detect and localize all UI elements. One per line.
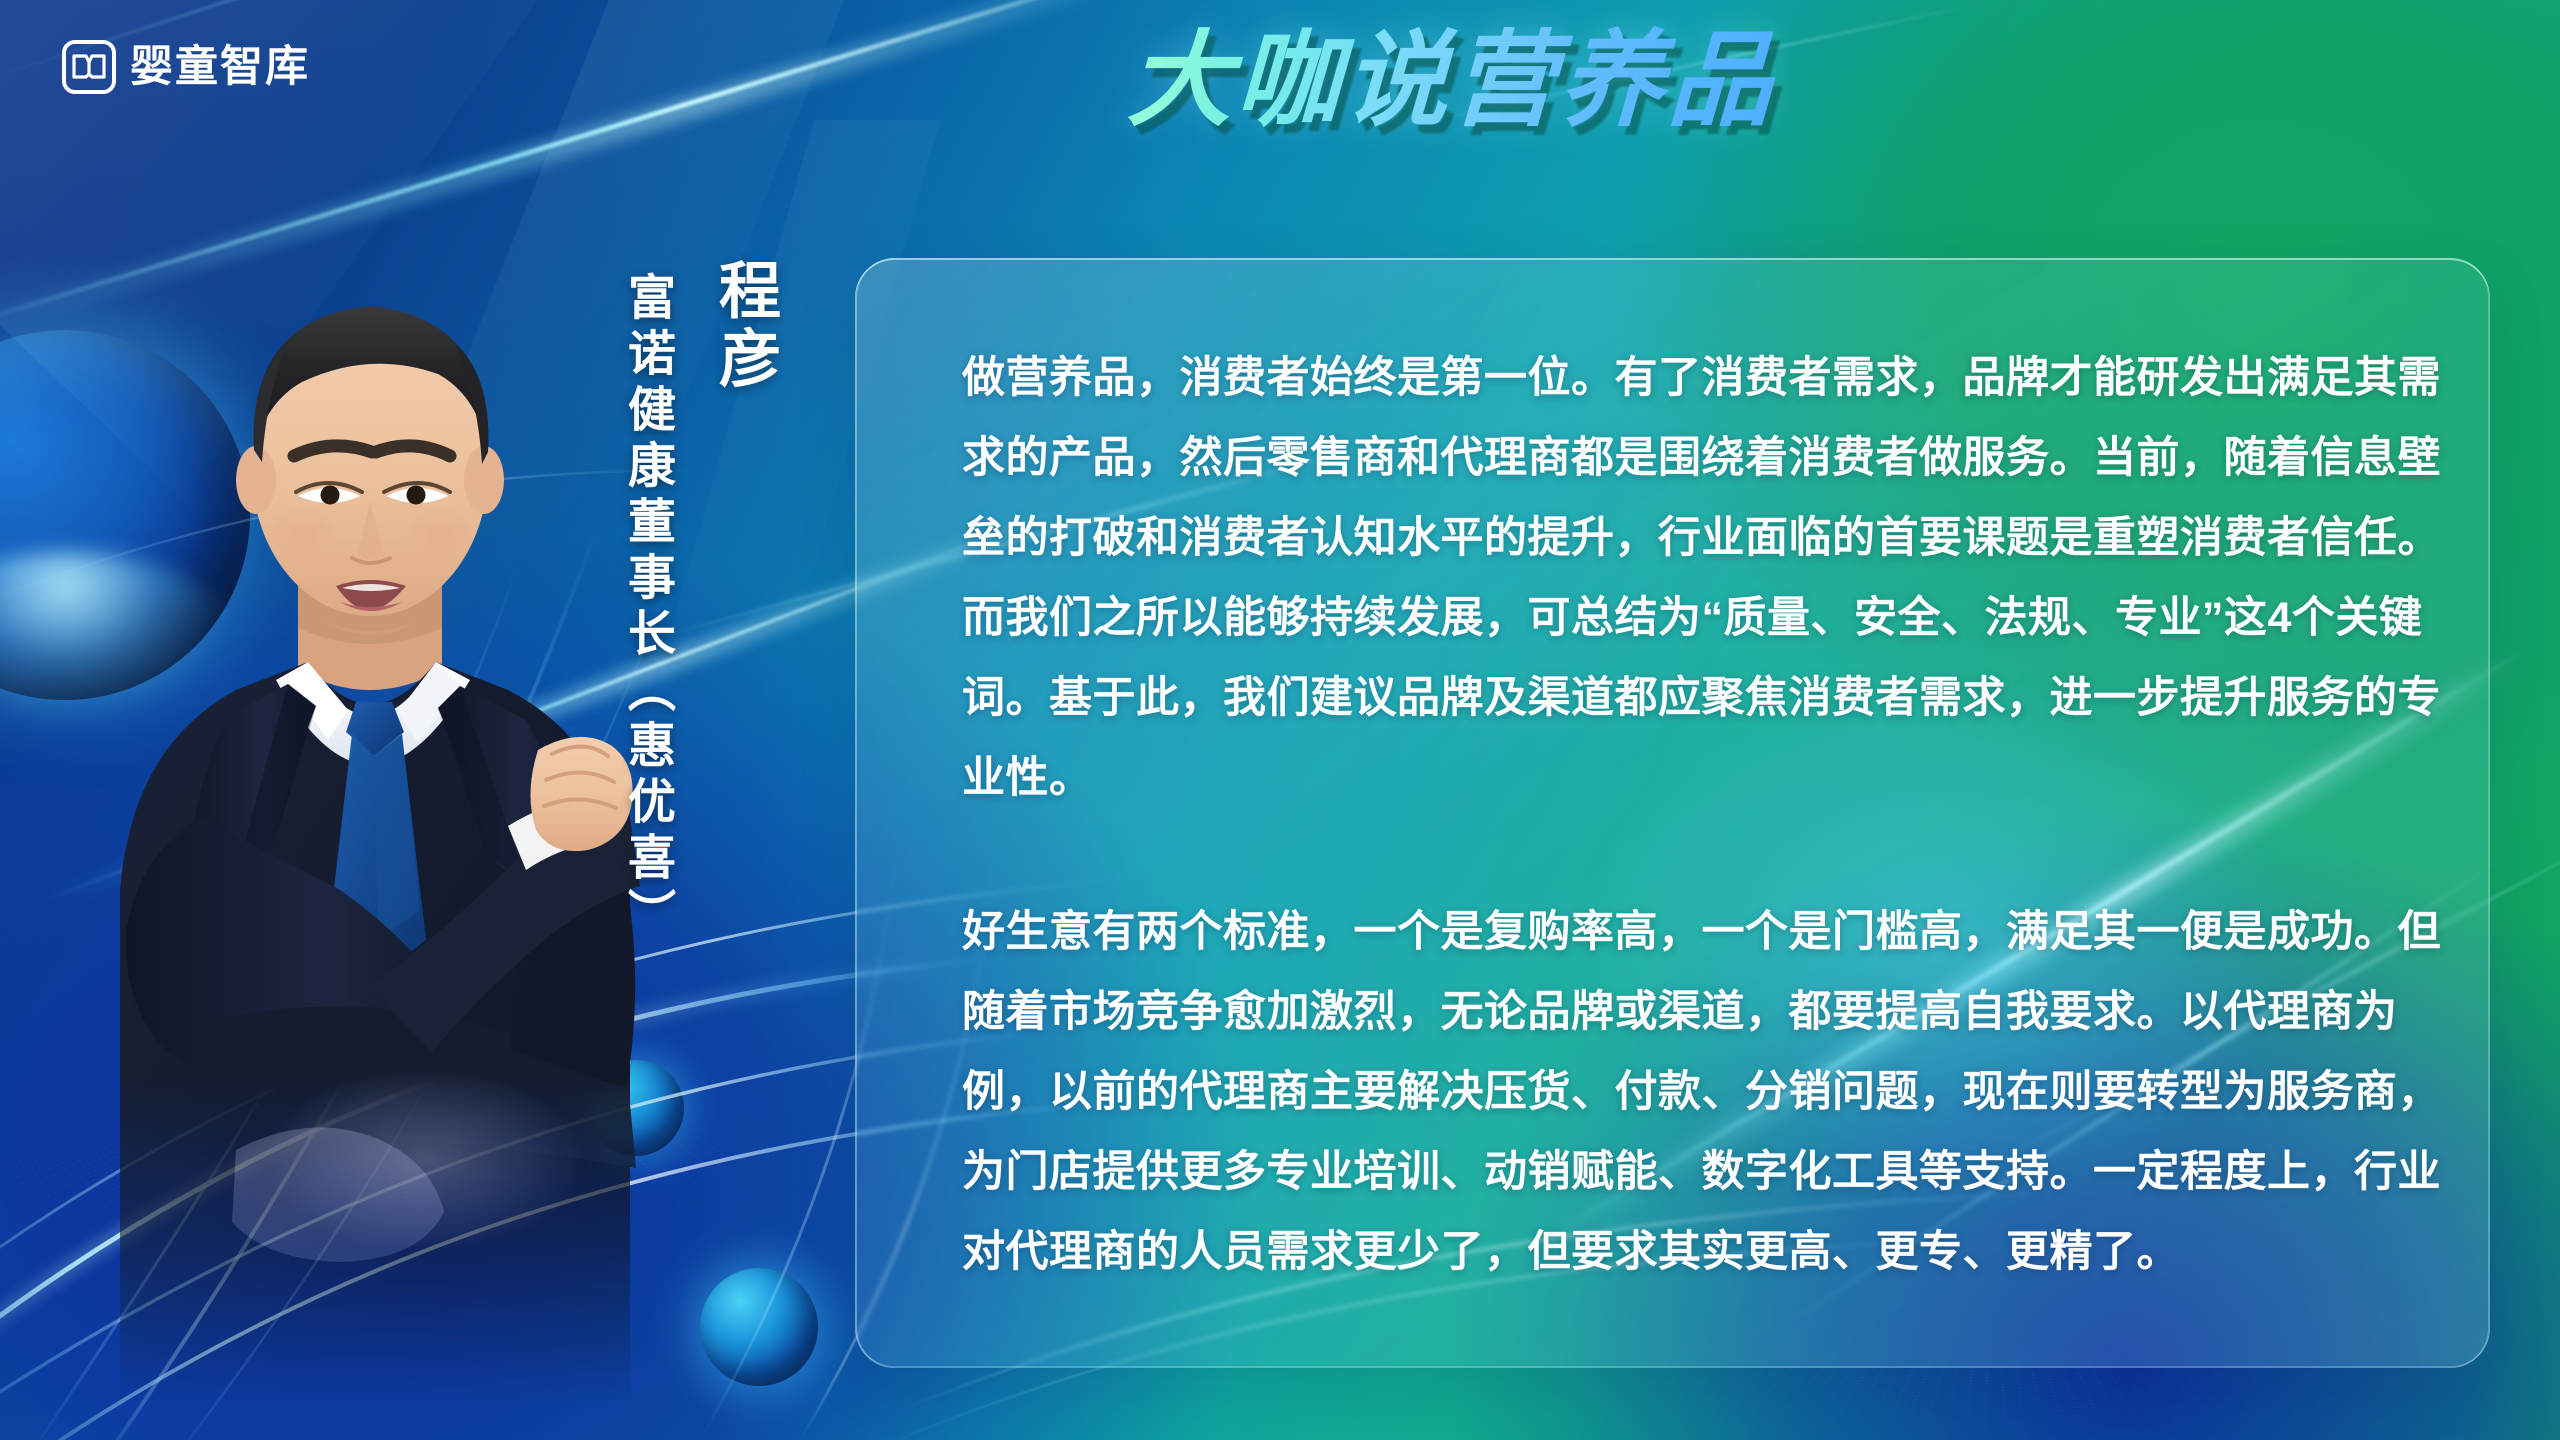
quote-text-block: 做营养品，消费者始终是第一位。有了消费者需求，品牌才能研发出满足其需求的产品，然…	[962, 338, 2472, 1292]
speaker-name: 程彦	[712, 258, 774, 394]
paragraph-spacer	[962, 818, 2472, 892]
quote-paragraph-1: 做营养品，消费者始终是第一位。有了消费者需求，品牌才能研发出满足其需求的产品，然…	[962, 338, 2472, 818]
headline-text: 大咖说营养品	[1126, 22, 1778, 142]
speaker-title: 富诺健康董事长（惠优喜）	[622, 272, 670, 944]
headline-title: 大咖说营养品	[1126, 22, 1778, 142]
open-book-icon	[62, 40, 116, 94]
brand-name: 婴童智库	[130, 46, 310, 89]
quote-paragraph-2: 好生意有两个标准，一个是复购率高，一个是门槛高，满足其一便是成功。但随着市场竞争…	[962, 892, 2472, 1292]
poster-canvas: 婴童智库 大咖说营养品 大咖说营养品 大咖说营养品	[0, 0, 2560, 1440]
brand-logo[interactable]: 婴童智库	[62, 40, 310, 94]
